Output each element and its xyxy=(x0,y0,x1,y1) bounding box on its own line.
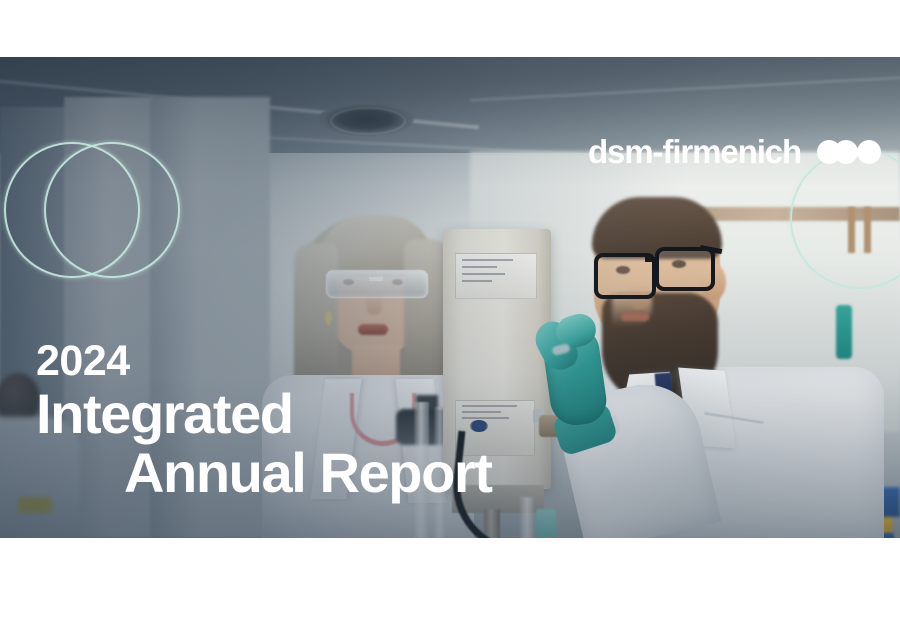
brand-dot-icon xyxy=(834,140,858,164)
brand-dots-icon xyxy=(817,140,881,164)
cover-photo: dsm-firmenich 2024 Integrated Annual Rep… xyxy=(0,57,900,538)
brand-wordmark: dsm-firmenich xyxy=(588,135,801,168)
cover-title: 2024 Integrated Annual Report xyxy=(36,340,492,503)
cover-title-line1: Integrated xyxy=(36,385,492,444)
brand-dot-icon xyxy=(857,140,881,164)
cover-title-line2: Annual Report xyxy=(36,444,492,503)
brand-logo: dsm-firmenich xyxy=(588,135,881,168)
report-cover-page: dsm-firmenich 2024 Integrated Annual Rep… xyxy=(0,0,900,618)
cover-title-year: 2024 xyxy=(36,340,492,383)
